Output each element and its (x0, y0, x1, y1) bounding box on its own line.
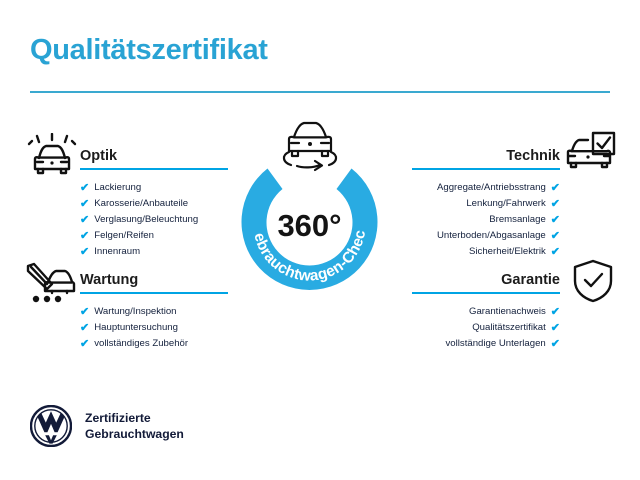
check-icon: ✔ (551, 247, 560, 258)
list-item: Garantienachweis✔ (412, 304, 560, 320)
section-title: Optik (80, 148, 117, 164)
list-item: vollständige Unterlagen✔ (412, 336, 560, 352)
section-title: Garantie (501, 272, 560, 288)
check-icon: ✔ (80, 247, 89, 258)
check-icon: ✔ (80, 199, 89, 210)
certificate-page: Qualitätszertifikat (0, 0, 640, 480)
check-icon: ✔ (551, 199, 560, 210)
car-shine-icon (26, 133, 78, 182)
checklist: Aggregate/Antriebsstrang✔ Lenkung/Fahrwe… (412, 180, 560, 260)
list-item-label: Garantienachweis (469, 304, 546, 320)
section-divider (412, 168, 560, 170)
check-icon: ✔ (80, 231, 89, 242)
list-item-label: Karosserie/Anbauteile (94, 196, 188, 212)
list-item-label: Lackierung (94, 180, 141, 196)
list-item-label: Sicherheit/Elektrik (469, 244, 546, 260)
title-divider (30, 91, 610, 93)
list-item: ✔Innenraum (80, 244, 228, 260)
check-icon: ✔ (551, 307, 560, 318)
list-item-label: vollständiges Zubehör (94, 336, 188, 352)
list-item: Bremsanlage✔ (412, 212, 560, 228)
list-item: ✔Karosserie/Anbauteile (80, 196, 228, 212)
car-rotate-icon (277, 118, 343, 176)
list-item: ✔Felgen/Reifen (80, 228, 228, 244)
section-header: Optik (80, 142, 228, 172)
list-item-label: Lenkung/Fahrwerk (466, 196, 545, 212)
list-item-label: vollständige Unterlagen (446, 336, 546, 352)
brand-line-1: Zertifizierte (85, 410, 184, 426)
section-technik: Technik Aggregate/Antriebsstrang✔ Lenkun… (412, 142, 560, 260)
shield-check-icon (572, 259, 614, 308)
check-icon: ✔ (80, 215, 89, 226)
page-title: Qualitätszertifikat (30, 34, 268, 67)
check-icon: ✔ (80, 339, 89, 350)
list-item-label: Unterboden/Abgasanlage (437, 228, 546, 244)
section-divider (80, 168, 228, 170)
list-item: ✔Wartung/Inspektion (80, 304, 228, 320)
list-item-label: Aggregate/Antriebsstrang (437, 180, 546, 196)
brand-line-2: Gebrauchtwagen (85, 426, 184, 442)
check-icon: ✔ (551, 183, 560, 194)
section-header: Garantie (412, 266, 560, 296)
checklist: Garantienachweis✔ Qualitätszertifikat✔ v… (412, 304, 560, 352)
list-item: ✔Verglasung/Beleuchtung (80, 212, 228, 228)
list-item: ✔Lackierung (80, 180, 228, 196)
list-item: Unterboden/Abgasanlage✔ (412, 228, 560, 244)
check-icon: ✔ (551, 339, 560, 350)
section-divider (80, 292, 228, 294)
check-icon: ✔ (80, 307, 89, 318)
section-header: Technik (412, 142, 560, 172)
section-garantie: Garantie Garantienachweis✔ Qualitätszert… (412, 266, 560, 352)
list-item-label: Verglasung/Beleuchtung (94, 212, 198, 228)
wrench-car-icon (22, 262, 76, 311)
brand-text: Zertifizierte Gebrauchtwagen (85, 410, 184, 442)
list-item: Lenkung/Fahrwerk✔ (412, 196, 560, 212)
section-title: Wartung (80, 272, 138, 288)
section-optik: Optik ✔Lackierung ✔Karosserie/Anbauteile… (80, 142, 228, 260)
list-item: Qualitätszertifikat✔ (412, 320, 560, 336)
check-icon: ✔ (551, 231, 560, 242)
list-item-label: Hauptuntersuchung (94, 320, 178, 336)
list-item-label: Innenraum (94, 244, 140, 260)
list-item-label: Felgen/Reifen (94, 228, 154, 244)
list-item-label: Wartung/Inspektion (94, 304, 176, 320)
car-checkbox-icon (566, 131, 616, 180)
list-item: ✔vollständiges Zubehör (80, 336, 228, 352)
checklist: ✔Lackierung ✔Karosserie/Anbauteile ✔Verg… (80, 180, 228, 260)
section-title: Technik (506, 148, 560, 164)
checklist: ✔Wartung/Inspektion ✔Hauptuntersuchung ✔… (80, 304, 228, 352)
list-item: Sicherheit/Elektrik✔ (412, 244, 560, 260)
check-icon: ✔ (551, 323, 560, 334)
check-icon: ✔ (80, 183, 89, 194)
list-item-label: Qualitätszertifikat (472, 320, 546, 336)
list-item: ✔Hauptuntersuchung (80, 320, 228, 336)
section-wartung: Wartung ✔Wartung/Inspektion ✔Hauptunters… (80, 266, 228, 352)
brand-footer: Zertifizierte Gebrauchtwagen (30, 405, 184, 447)
section-header: Wartung (80, 266, 228, 296)
vw-logo (30, 405, 72, 447)
check-icon: ✔ (80, 323, 89, 334)
section-divider (412, 292, 560, 294)
list-item-label: Bremsanlage (489, 212, 546, 228)
check-icon: ✔ (551, 215, 560, 226)
list-item: Aggregate/Antriebsstrang✔ (412, 180, 560, 196)
